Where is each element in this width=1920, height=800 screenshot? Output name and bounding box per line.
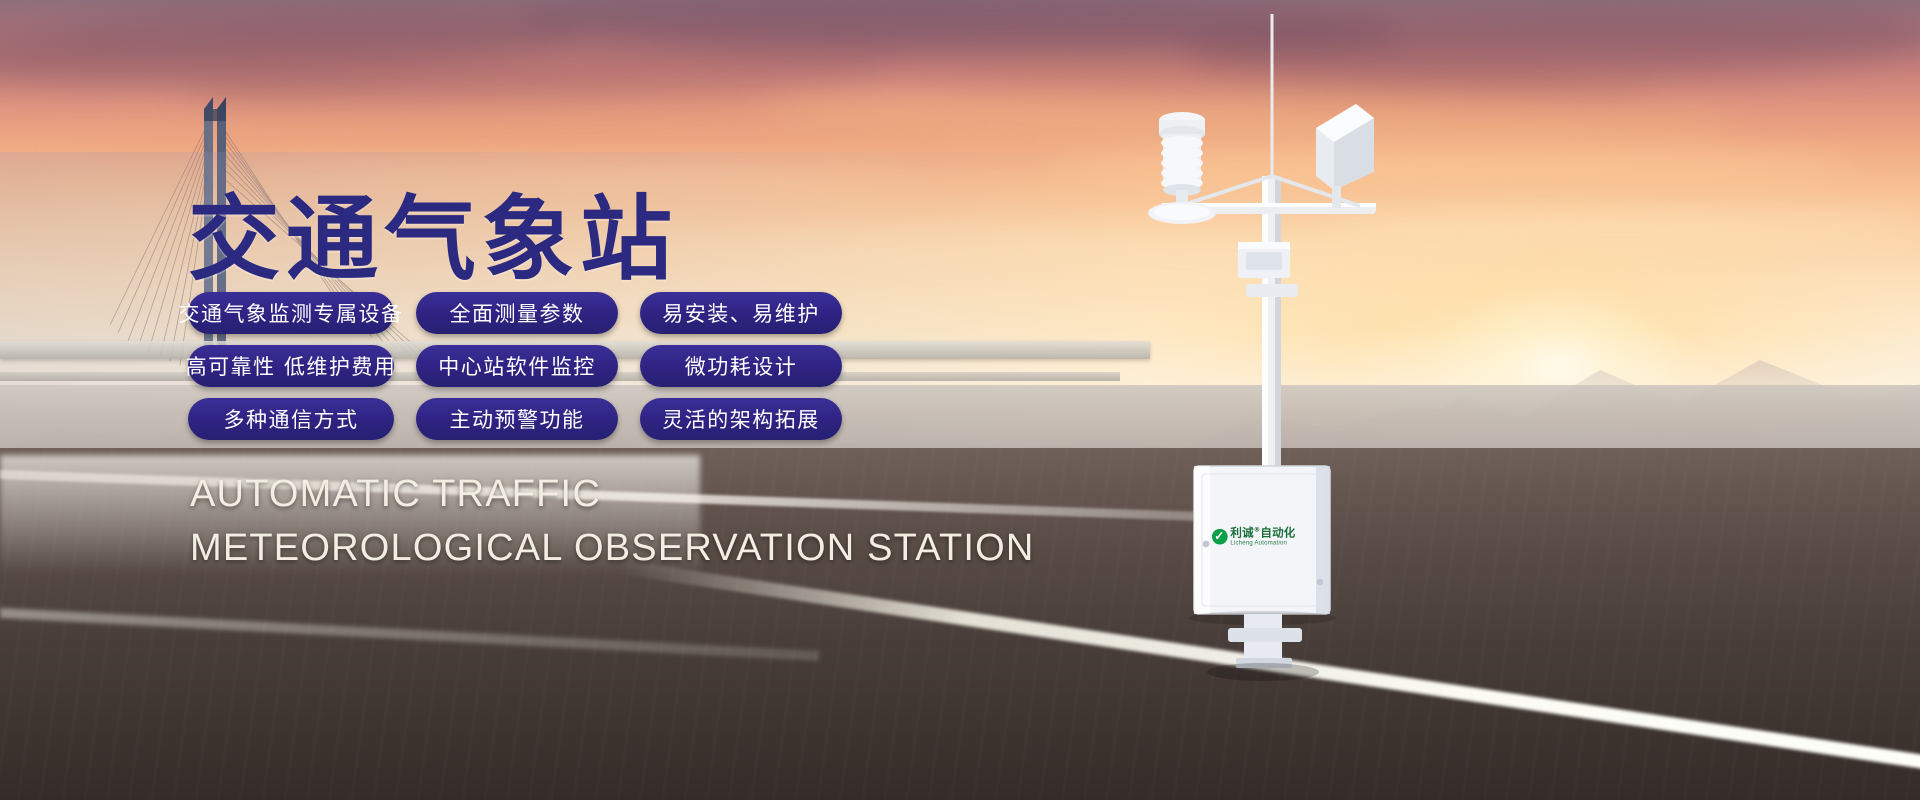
feature-badge[interactable]: 高可靠性 低维护费用 — [188, 345, 394, 387]
feature-badge-row: 多种通信方式 主动预警功能 灵活的架构拓展 — [188, 398, 842, 440]
page-title: 交通气象站 — [188, 194, 678, 286]
subtitle-line-2: METEOROLOGICAL OBSERVATION STATION — [190, 522, 1035, 576]
feature-badge[interactable]: 中心站软件监控 — [416, 345, 618, 387]
feature-badge-row: 交通气象监测专属设备 全面测量参数 易安装、易维护 — [188, 292, 842, 334]
feature-badge[interactable]: 易安装、易维护 — [640, 292, 842, 334]
feature-badge[interactable]: 主动预警功能 — [416, 398, 618, 440]
feature-badge[interactable]: 多种通信方式 — [188, 398, 394, 440]
feature-badge[interactable]: 微功耗设计 — [640, 345, 842, 387]
subtitle-line-1: AUTOMATIC TRAFFIC — [190, 468, 1035, 522]
page-subtitle: AUTOMATIC TRAFFIC METEOROLOGICAL OBSERVA… — [190, 468, 1035, 576]
product-hero-banner: 利诚®自动化 Licheng Automation 交通气象站 交通气象监测专属… — [0, 0, 1920, 800]
feature-badge-grid: 交通气象监测专属设备 全面测量参数 易安装、易维护 高可靠性 低维护费用 中心站… — [188, 292, 842, 440]
feature-badge[interactable]: 交通气象监测专属设备 — [188, 292, 394, 334]
feature-badge[interactable]: 灵活的架构拓展 — [640, 398, 842, 440]
feature-badge[interactable]: 全面测量参数 — [416, 292, 618, 334]
feature-badge-row: 高可靠性 低维护费用 中心站软件监控 微功耗设计 — [188, 345, 842, 387]
